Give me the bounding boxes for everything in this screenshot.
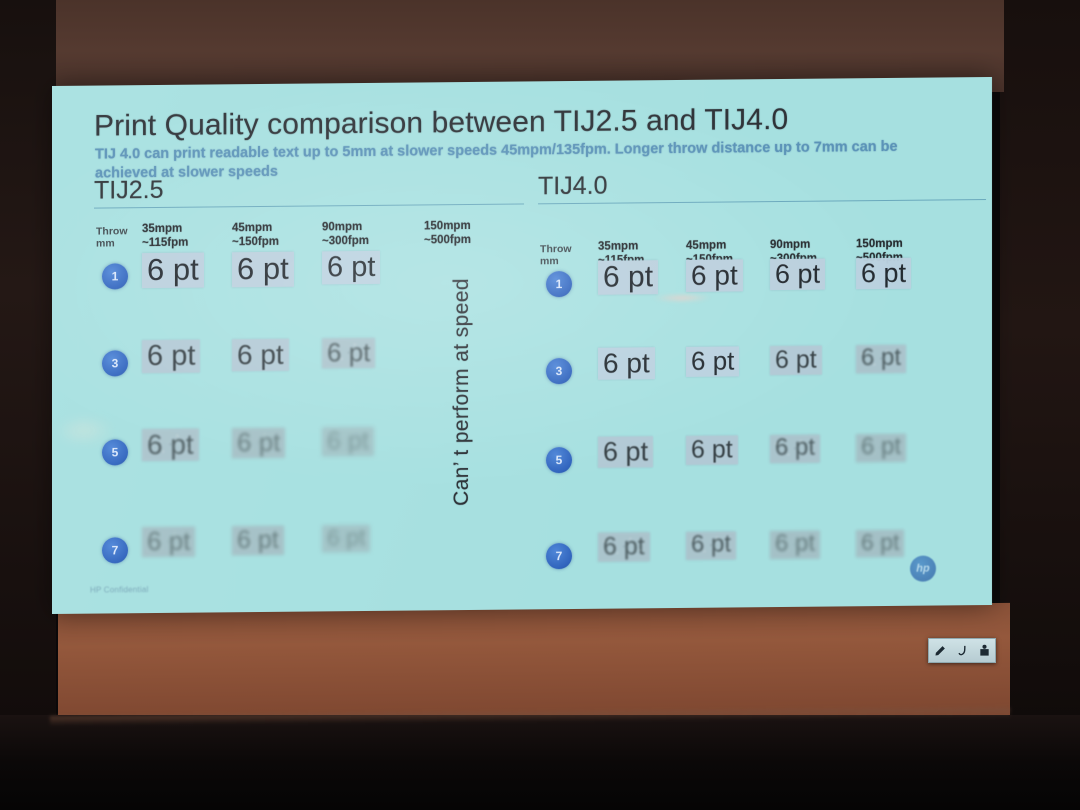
print-sample-TIJ2.5-throw5-col2: 6 pt	[232, 428, 285, 459]
print-sample-TIJ4.0-throw7-col3: 6 pt	[770, 531, 820, 559]
sample-cell: 6 pt	[856, 258, 911, 290]
sample-cell: 6 pt	[686, 531, 736, 559]
throw-badge-1: 1	[546, 271, 572, 297]
print-sample-TIJ4.0-throw5-col4: 6 pt	[856, 434, 906, 462]
print-sample-TIJ4.0-throw1-col3: 6 pt	[770, 259, 825, 291]
print-sample-TIJ2.5-throw5-col1: 6 pt	[142, 429, 199, 462]
print-sample-TIJ4.0-throw1-col4: 6 pt	[856, 258, 911, 290]
print-sample-TIJ2.5-throw7-col1: 6 pt	[142, 527, 195, 558]
sample-cell: 6 pt	[232, 428, 285, 459]
sample-cell: 6 pt	[142, 253, 204, 289]
print-sample-TIJ4.0-throw7-col2: 6 pt	[686, 531, 736, 559]
sample-cell: 6 pt	[770, 531, 820, 559]
panel-rule-tij25	[94, 203, 524, 208]
slide-title: Print Quality comparison between TIJ2.5 …	[94, 103, 788, 144]
sample-cell: 6 pt	[232, 252, 294, 288]
throw-badge-1: 1	[102, 263, 128, 289]
print-sample-TIJ4.0-throw5-col2: 6 pt	[686, 435, 738, 464]
slide-content: Print Quality comparison between TIJ2.5 …	[52, 77, 992, 614]
print-sample-TIJ4.0-throw3-col3: 6 pt	[770, 346, 822, 375]
projected-presentation-scene: Print Quality comparison between TIJ2.5 …	[0, 0, 1080, 810]
sample-cell: 6 pt	[686, 259, 743, 292]
hp-logo-icon: hp	[910, 556, 936, 582]
throw-header: Throw mm	[96, 225, 140, 249]
print-sample-TIJ4.0-throw3-col4: 6 pt	[856, 345, 906, 373]
print-sample-TIJ2.5-throw3-col2: 6 pt	[232, 339, 289, 372]
throw-header: Throw mm	[540, 243, 584, 267]
column-header-90mpm: 90mpm ~300fpm	[322, 221, 369, 248]
sample-cell: 6 pt	[598, 260, 658, 295]
sample-cell: 6 pt	[142, 429, 199, 462]
projection-artifact-smudge	[652, 294, 712, 303]
print-sample-TIJ4.0-throw3-col2: 6 pt	[686, 346, 739, 377]
sample-cell: 6 pt	[142, 527, 195, 558]
panel-rule-tij40	[538, 199, 986, 204]
throw-badge-7: 7	[102, 537, 128, 563]
print-sample-TIJ2.5-throw3-col1: 6 pt	[142, 340, 200, 374]
print-sample-TIJ2.5-throw5-col3: 6 pt	[322, 427, 374, 456]
sample-cell: 6 pt	[686, 346, 739, 377]
print-sample-TIJ2.5-throw1-col2: 6 pt	[232, 252, 294, 288]
sample-cell: 6 pt	[686, 435, 738, 464]
room-wall-right	[1000, 0, 1080, 722]
sample-cell: 6 pt	[770, 346, 822, 375]
sample-cell: 6 pt	[770, 435, 820, 463]
sample-cell: 6 pt	[232, 526, 284, 555]
print-sample-TIJ2.5-throw7-col2: 6 pt	[232, 526, 284, 555]
pen-icon[interactable]	[933, 644, 947, 658]
print-sample-TIJ4.0-throw3-col1: 6 pt	[598, 347, 655, 380]
print-sample-TIJ4.0-throw1-col1: 6 pt	[598, 260, 658, 295]
sample-cell: 6 pt	[770, 259, 825, 291]
sample-cell: 6 pt	[856, 530, 904, 557]
sample-cell: 6 pt	[856, 345, 906, 373]
quality-table-tij40: Throw mm35mpm ~115fpm45mpm ~150fpm90mpm …	[538, 209, 986, 593]
panel-tij40: TIJ4.0 Throw mm35mpm ~115fpm45mpm ~150fp…	[538, 169, 986, 593]
laser-pointer-icon[interactable]	[955, 644, 969, 658]
print-sample-TIJ2.5-throw1-col1: 6 pt	[142, 253, 204, 289]
print-sample-TIJ4.0-throw5-col3: 6 pt	[770, 435, 820, 463]
print-sample-TIJ2.5-throw3-col3: 6 pt	[322, 338, 375, 369]
sample-cell: 6 pt	[142, 340, 200, 374]
sample-cell: 6 pt	[322, 338, 375, 369]
slide-footer: HP Confidential	[90, 585, 148, 595]
sample-cell: 6 pt	[598, 347, 655, 380]
throw-badge-5: 5	[546, 447, 572, 473]
column-header-150mpm: 150mpm ~500fpm	[424, 220, 471, 247]
presenter-view-icon[interactable]	[977, 644, 991, 658]
room-floor	[0, 715, 1080, 810]
cant-perform-at-speed-note: Can’ t perform at speed	[450, 278, 474, 506]
sample-cell: 6 pt	[322, 525, 370, 552]
throw-badge-3: 3	[546, 358, 572, 384]
print-sample-TIJ2.5-throw7-col3: 6 pt	[322, 525, 370, 552]
presenter-toolbar[interactable]	[928, 638, 996, 663]
panel-title-tij40: TIJ4.0	[538, 169, 986, 199]
print-sample-TIJ4.0-throw7-col1: 6 pt	[598, 532, 650, 561]
column-header-45mpm: 45mpm ~150fpm	[232, 222, 279, 249]
throw-badge-7: 7	[546, 543, 572, 569]
throw-badge-3: 3	[102, 350, 128, 376]
column-header-35mpm: 35mpm ~115fpm	[142, 223, 188, 250]
room-wall-left	[0, 0, 56, 722]
print-sample-TIJ2.5-throw1-col3: 6 pt	[322, 251, 380, 285]
presentation-slide: Print Quality comparison between TIJ2.5 …	[52, 77, 992, 614]
sample-cell: 6 pt	[598, 436, 653, 468]
sample-cell: 6 pt	[598, 532, 650, 561]
print-sample-TIJ4.0-throw5-col1: 6 pt	[598, 436, 653, 468]
sample-cell: 6 pt	[232, 339, 289, 372]
sample-cell: 6 pt	[856, 434, 906, 462]
sample-cell: 6 pt	[322, 251, 380, 285]
sample-cell: 6 pt	[322, 427, 374, 456]
projection-artifact-glare	[54, 415, 114, 446]
panel-title-tij25: TIJ2.5	[94, 173, 524, 203]
print-sample-TIJ4.0-throw7-col4: 6 pt	[856, 530, 904, 557]
print-sample-TIJ4.0-throw1-col2: 6 pt	[686, 259, 743, 292]
